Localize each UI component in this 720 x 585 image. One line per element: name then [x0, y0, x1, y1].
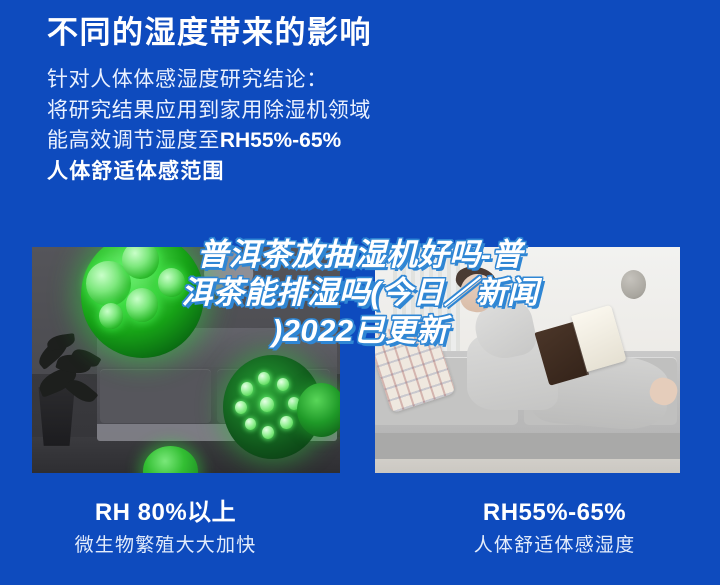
- caption-title: RH 80%以上: [0, 498, 331, 528]
- header-block: 不同的湿度带来的影响 针对人体体感湿度研究结论： 将研究结果应用到家用除湿机领域…: [47, 14, 687, 188]
- page-title: 不同的湿度带来的影响: [47, 14, 687, 53]
- germ-bump: [158, 268, 185, 297]
- virus-spike: [262, 426, 274, 438]
- virus-spike: [280, 416, 293, 430]
- sofa-seat-left: [100, 369, 211, 423]
- caption-high-humidity: RH 80%以上 微生物繁殖大大加快: [0, 498, 367, 578]
- lead-line-1: 针对人体体感湿度研究结论：: [47, 65, 687, 96]
- virus-spike: [235, 401, 247, 413]
- humidity-range-value: RH55%-65%: [220, 129, 341, 152]
- lead-line-3-prefix: 能高效调节湿度至: [47, 129, 220, 152]
- high-humidity-photo: [32, 247, 340, 473]
- germ-bump: [126, 288, 158, 322]
- caption-comfort-humidity: RH55%-65% 人体舒适体感湿度: [367, 498, 720, 578]
- lead-line-3: 能高效调节湿度至RH55%-65%: [47, 126, 687, 157]
- dark-room-scene: [32, 247, 340, 473]
- germ-bump: [99, 303, 124, 329]
- germ-small-right: [297, 383, 340, 437]
- virus-spike: [241, 382, 254, 396]
- caption-subtitle: 微生物繁殖大大加快: [0, 534, 331, 558]
- reading-person: [375, 247, 680, 473]
- lead-line-2: 将研究结果应用到家用除湿机领域: [47, 96, 687, 127]
- lead-line-4: 人体舒适体感范围: [47, 157, 687, 188]
- photo-row: [0, 247, 720, 473]
- virus-spike: [258, 372, 270, 384]
- comfort-humidity-photo: [375, 247, 680, 473]
- infographic-page: 不同的湿度带来的影响 针对人体体感湿度研究结论： 将研究结果应用到家用除湿机领域…: [0, 0, 720, 585]
- lead-paragraph: 针对人体体感湿度研究结论： 将研究结果应用到家用除湿机领域 能高效调节湿度至RH…: [47, 65, 687, 188]
- caption-title: RH55%-65%: [389, 498, 720, 528]
- virus-spike: [245, 418, 257, 430]
- caption-row: RH 80%以上 微生物繁殖大大加快 RH55%-65% 人体舒适体感湿度: [0, 498, 720, 578]
- caption-subtitle: 人体舒适体感湿度: [389, 534, 720, 558]
- virus-spike: [260, 397, 274, 412]
- virus-spike: [277, 378, 289, 390]
- bright-room-scene: [375, 247, 680, 473]
